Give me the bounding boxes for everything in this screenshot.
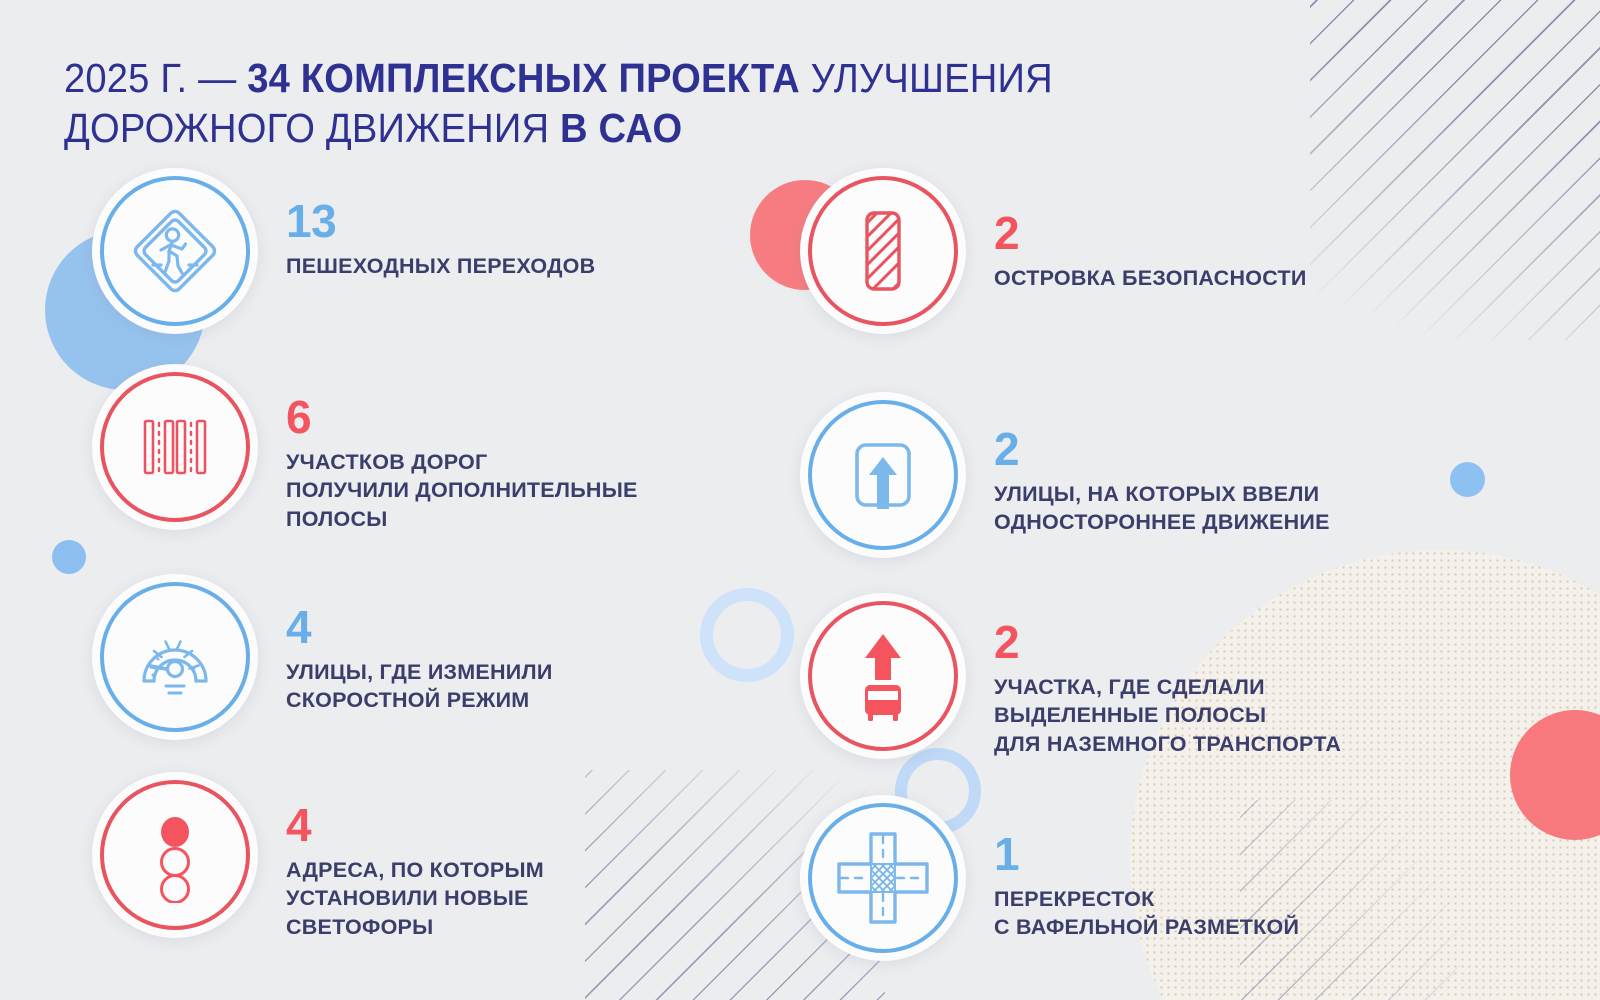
stat-item-dedicated-bus-lanes: 2 УЧАСТКА, ГДЕ СДЕЛАЛИ ВЫДЕЛЕННЫЕ ПОЛОСЫ… xyxy=(800,593,1500,795)
stat-label: УЧАСТКОВ ДОРОГ ПОЛУЧИЛИ ДОПОЛНИТЕЛЬНЫЕ П… xyxy=(286,448,638,533)
title-segment-traffic: ДОРОЖНОГО ДВИЖЕНИЯ xyxy=(64,105,560,151)
icon-badge xyxy=(800,593,966,759)
stat-number: 13 xyxy=(286,198,595,244)
stat-text: 6 УЧАСТКОВ ДОРОГ ПОЛУЧИЛИ ДОПОЛНИТЕЛЬНЫЕ… xyxy=(258,364,638,533)
page-title: 2025 Г. — 34 КОМПЛЕКСНЫХ ПРОЕКТА УЛУЧШЕН… xyxy=(64,53,1245,153)
stat-label: ПЕШЕХОДНЫХ ПЕРЕХОДОВ xyxy=(286,252,595,280)
stat-number: 2 xyxy=(994,210,1307,256)
stat-text: 2 ОСТРОВКА БЕЗОПАСНОСТИ xyxy=(966,168,1307,292)
stat-item-waffle-intersection: 1 ПЕРЕКРЕСТОК С ВАФЕЛЬНОЙ РАЗМЕТКОЙ xyxy=(800,795,1500,961)
bus-lane-icon xyxy=(835,628,931,724)
icon-badge xyxy=(92,772,258,938)
one-way-arrow-sign-icon xyxy=(835,427,931,523)
infographic-canvas: 2025 Г. — 34 КОМПЛЕКСНЫХ ПРОЕКТА УЛУЧШЕН… xyxy=(0,0,1600,1000)
icon-badge xyxy=(92,574,258,740)
stat-text: 2 УЧАСТКА, ГДЕ СДЕЛАЛИ ВЫДЕЛЕННЫЕ ПОЛОСЫ… xyxy=(966,593,1341,758)
stat-item-speed-limit-changes: 4 УЛИЦЫ, ГДЕ ИЗМЕНИЛИ СКОРОСТНОЙ РЕЖИМ xyxy=(92,574,752,772)
stats-column-left: 13 ПЕШЕХОДНЫХ ПЕРЕХОДОВ xyxy=(92,168,752,941)
stat-label: ОСТРОВКА БЕЗОПАСНОСТИ xyxy=(994,264,1307,292)
stat-label: АДРЕСА, ПО КОТОРЫМ УСТАНОВИЛИ НОВЫЕ СВЕТ… xyxy=(286,856,544,941)
icon-badge xyxy=(800,168,966,334)
stat-item-additional-lanes: 6 УЧАСТКОВ ДОРОГ ПОЛУЧИЛИ ДОПОЛНИТЕЛЬНЫЕ… xyxy=(92,364,752,574)
stats-column-right: 2 ОСТРОВКА БЕЗОПАСНОСТИ 2 УЛИЦЫ, НА КОТО… xyxy=(800,168,1500,961)
speedometer-icon xyxy=(127,609,223,705)
stat-label: ПЕРЕКРЕСТОК С ВАФЕЛЬНОЙ РАЗМЕТКОЙ xyxy=(994,885,1299,942)
title-segment-projects: 34 КОМПЛЕКСНЫХ ПРОЕКТА xyxy=(247,55,800,101)
blue-dot-decoration-left xyxy=(52,540,86,574)
stat-label: УЛИЦЫ, ГДЕ ИЗМЕНИЛИ СКОРОСТНОЙ РЕЖИМ xyxy=(286,658,553,715)
stat-text: 13 ПЕШЕХОДНЫХ ПЕРЕХОДОВ xyxy=(258,168,595,280)
icon-badge xyxy=(92,168,258,334)
icon-badge xyxy=(800,392,966,558)
icon-badge xyxy=(92,364,258,530)
icon-badge xyxy=(800,795,966,961)
stat-label: УЛИЦЫ, НА КОТОРЫХ ВВЕЛИ ОДНОСТОРОННЕЕ ДВ… xyxy=(994,480,1330,537)
stat-number: 4 xyxy=(286,604,553,650)
stat-text: 4 АДРЕСА, ПО КОТОРЫМ УСТАНОВИЛИ НОВЫЕ СВ… xyxy=(258,772,544,941)
stat-item-pedestrian-crossings: 13 ПЕШЕХОДНЫХ ПЕРЕХОДОВ xyxy=(92,168,752,364)
pedestrian-crossing-sign-icon xyxy=(127,203,223,299)
stat-number: 2 xyxy=(994,426,1330,472)
safety-island-icon xyxy=(835,203,931,299)
traffic-light-icon xyxy=(127,807,223,903)
stat-number: 4 xyxy=(286,802,544,848)
stat-text: 1 ПЕРЕКРЕСТОК С ВАФЕЛЬНОЙ РАЗМЕТКОЙ xyxy=(966,795,1299,942)
red-circle-decoration-2 xyxy=(1510,710,1600,840)
waffle-intersection-icon xyxy=(835,830,931,926)
stat-number: 6 xyxy=(286,394,638,440)
road-lanes-icon xyxy=(127,399,223,495)
stat-item-safety-islands: 2 ОСТРОВКА БЕЗОПАСНОСТИ xyxy=(800,168,1500,392)
stat-text: 4 УЛИЦЫ, ГДЕ ИЗМЕНИЛИ СКОРОСТНОЙ РЕЖИМ xyxy=(258,574,553,715)
stat-number: 1 xyxy=(994,831,1299,877)
stat-item-one-way-streets: 2 УЛИЦЫ, НА КОТОРЫХ ВВЕЛИ ОДНОСТОРОННЕЕ … xyxy=(800,392,1500,593)
stat-text: 2 УЛИЦЫ, НА КОТОРЫХ ВВЕЛИ ОДНОСТОРОННЕЕ … xyxy=(966,392,1330,537)
title-segment-district: В САО xyxy=(560,105,682,151)
title-segment-year: 2025 Г. — xyxy=(64,55,247,101)
title-segment-improvement: УЛУЧШЕНИЯ xyxy=(800,55,1053,101)
stat-number: 2 xyxy=(994,619,1341,665)
stat-item-new-traffic-lights: 4 АДРЕСА, ПО КОТОРЫМ УСТАНОВИЛИ НОВЫЕ СВ… xyxy=(92,772,752,941)
stat-label: УЧАСТКА, ГДЕ СДЕЛАЛИ ВЫДЕЛЕННЫЕ ПОЛОСЫ Д… xyxy=(994,673,1341,758)
